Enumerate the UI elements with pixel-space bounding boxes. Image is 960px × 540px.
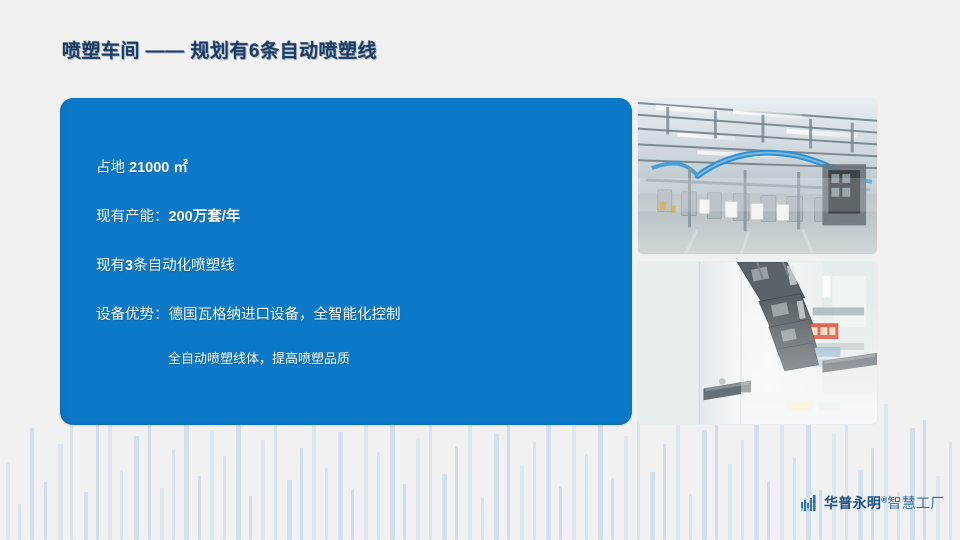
decorative-bar: [198, 476, 201, 540]
decorative-bar: [780, 424, 784, 540]
info-line-5-prefix: 全自动喷塑线体，提高喷塑品质: [168, 351, 350, 366]
decorative-bar: [120, 470, 123, 540]
decorative-bar: [481, 498, 484, 540]
decorative-bar: [585, 454, 588, 540]
decorative-bar: [767, 482, 770, 540]
decorative-bar: [741, 440, 744, 540]
decorative-bar: [172, 450, 175, 540]
decorative-bar: [442, 474, 447, 540]
decorative-bar: [715, 416, 718, 540]
decorative-bar: [364, 416, 368, 540]
decorative-bar: [429, 422, 432, 540]
info-line-2-prefix: 现有产能：: [96, 209, 169, 225]
decorative-bar: [236, 410, 241, 540]
decorative-bar: [274, 418, 277, 540]
decorative-bar: [624, 436, 628, 540]
decorative-bar: [148, 414, 151, 540]
decorative-bar: [494, 434, 499, 540]
decorative-bar: [611, 478, 614, 540]
decorative-bar: [44, 482, 47, 540]
info-line-equipment-advantage: 设备优势：德国瓦格纳进口设备，全智能化控制: [96, 303, 401, 324]
page-title: 喷塑车间 —— 规划有6条自动喷塑线: [62, 36, 377, 63]
decorative-bar: [520, 466, 524, 540]
info-line-existing-lines: 现有3条自动化喷塑线: [96, 254, 235, 275]
info-line-area: 占地 21000 ㎡: [96, 156, 188, 177]
decorative-bar: [845, 414, 848, 540]
photo-powder-coating-workshop-overview: [637, 98, 878, 255]
decorative-bar: [754, 410, 759, 540]
decorative-bar: [923, 420, 926, 540]
workshop-overview-illustration: [638, 99, 877, 254]
info-line-1-strong: 21000 ㎡: [129, 160, 188, 176]
decorative-bar: [84, 492, 88, 540]
decorative-bar: [134, 436, 139, 540]
decorative-bar: [650, 472, 655, 540]
decorative-bar: [160, 488, 164, 540]
decorative-bar: [702, 430, 707, 540]
factory-building-icon: [800, 493, 820, 513]
brand-name: 华普永明: [824, 495, 881, 511]
brand-logo-text: 华普永明®智慧工厂: [824, 493, 945, 513]
decorative-bar: [832, 434, 836, 540]
decorative-bar: [910, 428, 915, 540]
info-line-3-strong: 3: [125, 258, 133, 274]
brand-logo: 华普永明®智慧工厂: [800, 492, 945, 514]
decorative-bar: [533, 442, 536, 540]
decorative-bar: [300, 448, 303, 540]
decorative-bar: [507, 412, 510, 540]
decorative-bar: [58, 444, 63, 540]
decorative-bar: [793, 458, 796, 540]
decorative-bar: [351, 490, 354, 540]
decorative-bar: [884, 404, 888, 540]
brand-sub-name: 智慧工厂: [887, 495, 944, 511]
decorative-bar: [325, 468, 328, 540]
decorative-bar: [455, 446, 458, 540]
decorative-bar: [261, 440, 265, 540]
decorative-bar: [572, 426, 576, 540]
coating-line-closeup-illustration: [638, 262, 877, 424]
decorative-bar: [403, 484, 406, 540]
info-line-4-prefix: 设备优势：德国瓦格纳进口设备，全智能化控制: [96, 307, 401, 323]
decorative-bar: [223, 456, 226, 540]
info-line-capacity: 现有产能：200万套/年: [96, 205, 240, 226]
decorative-bar: [338, 432, 343, 540]
info-line-2-strong: 200万套/年: [169, 209, 241, 225]
info-panel: 占地 21000 ㎡ 现有产能：200万套/年 现有3条自动化喷塑线 设备优势：…: [60, 98, 632, 425]
decorative-bar: [18, 504, 21, 540]
decorative-bar: [728, 464, 732, 540]
decorative-bar: [468, 408, 472, 540]
info-line-3-prefix: 现有: [96, 258, 125, 274]
info-line-quality-note: 全自动喷塑线体，提高喷塑品质: [168, 348, 350, 367]
decorative-bar: [949, 442, 952, 540]
decorative-bar: [210, 430, 214, 540]
decorative-bar: [96, 422, 99, 540]
info-line-1-prefix: 占地: [96, 160, 129, 176]
photo-powder-coating-line-closeup: [637, 261, 878, 425]
decorative-bar: [663, 444, 666, 540]
decorative-bar: [598, 406, 603, 540]
decorative-bar: [249, 496, 252, 540]
decorative-bar: [6, 462, 10, 540]
decorative-bar: [689, 494, 692, 540]
decorative-bar: [30, 428, 34, 540]
decorative-bar: [637, 420, 640, 540]
info-line-3-suffix: 条自动化喷塑线: [133, 258, 235, 274]
decorative-bar: [416, 438, 420, 540]
decorative-bar: [559, 486, 562, 540]
decorative-bar: [70, 408, 73, 540]
slide-canvas: 喷塑车间 —— 规划有6条自动喷塑线 占地 21000 ㎡ 现有产能：200万套…: [0, 0, 960, 540]
decorative-bar: [287, 480, 292, 540]
decorative-bar: [377, 452, 380, 540]
